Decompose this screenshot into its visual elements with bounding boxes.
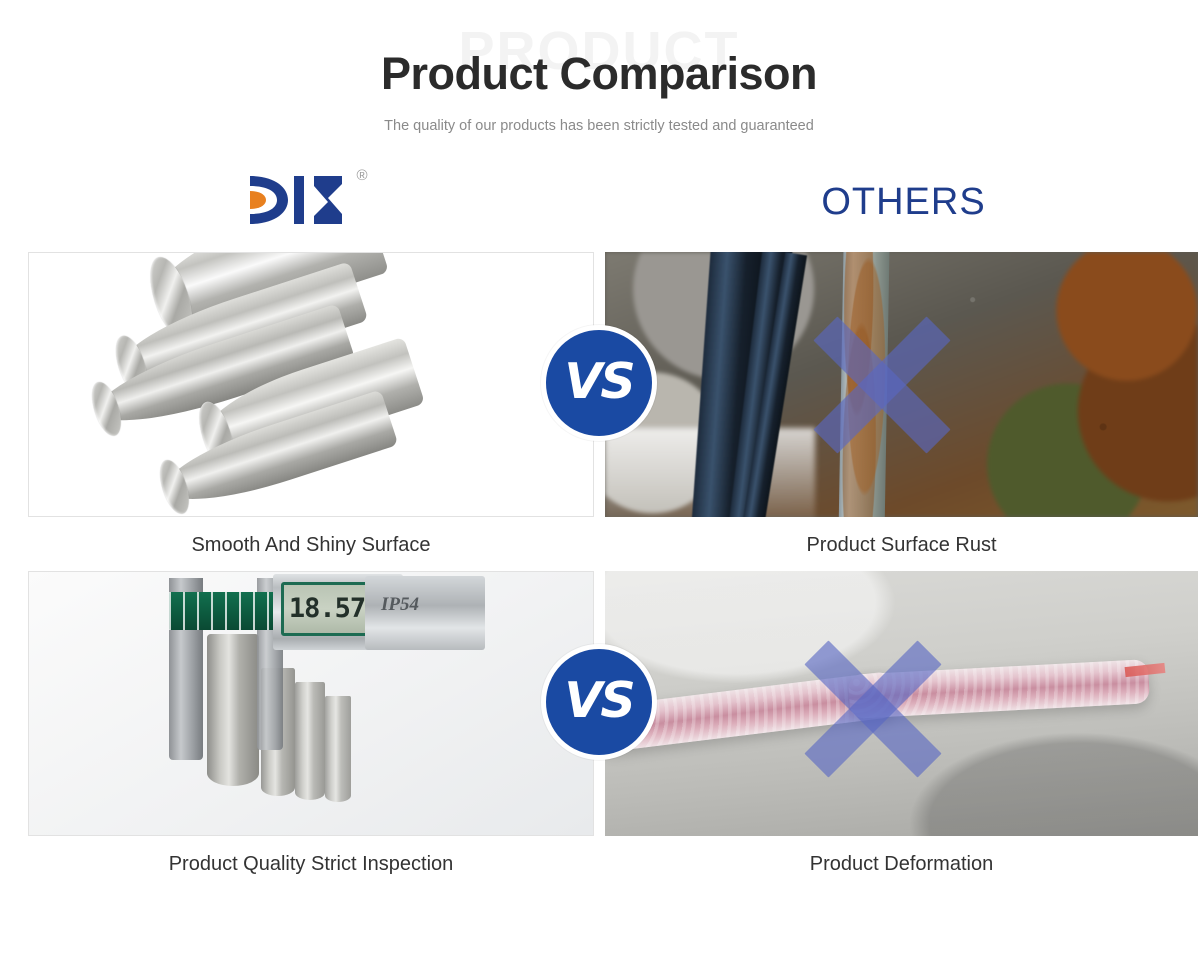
comparison-row: VS	[0, 252, 1198, 563]
vs-badge: VS	[541, 644, 657, 760]
our-product-cell: Smooth And Shiny Surface	[0, 252, 599, 563]
caliper-reading: 18.57	[289, 593, 365, 624]
brand-logo: ®	[244, 172, 346, 233]
our-product-image[interactable]: 18.57 IP54	[28, 571, 594, 836]
rusty-pipe-photo	[605, 252, 1198, 517]
other-product-caption: Product Surface Rust	[605, 517, 1198, 563]
our-product-cell: 18.57 IP54 Product Quality Strict Inspec…	[0, 571, 599, 882]
our-product-caption: Smooth And Shiny Surface	[28, 517, 594, 563]
deformed-rod-photo	[605, 571, 1198, 836]
registered-trademark-icon: ®	[356, 168, 367, 183]
vs-badge: VS	[541, 325, 657, 441]
other-product-caption: Product Deformation	[605, 836, 1198, 882]
our-product-image[interactable]	[28, 252, 594, 517]
our-brand-cell: ®	[0, 164, 599, 242]
caliper-measurement-photo: 18.57 IP54	[29, 572, 593, 835]
others-label: OTHERS	[821, 181, 985, 224]
comparison-grid: VS	[0, 252, 1198, 882]
other-product-image[interactable]	[605, 252, 1198, 517]
page-title: Product Comparison	[0, 48, 1198, 100]
caliper-display: 18.57	[281, 582, 373, 636]
page-header: PRODUCT Product Comparison The quality o…	[0, 0, 1198, 134]
vs-label: VS	[564, 353, 633, 410]
other-product-cell: Product Surface Rust	[599, 252, 1198, 563]
page-subtitle: The quality of our products has been str…	[0, 118, 1198, 134]
comparison-row: VS	[0, 571, 1198, 882]
others-brand-cell: OTHERS	[599, 164, 1198, 242]
our-product-caption: Product Quality Strict Inspection	[28, 836, 594, 882]
dlx-logo-icon	[244, 172, 346, 228]
caliper-ip-rating: IP54	[381, 594, 419, 616]
other-product-cell: Product Deformation	[599, 571, 1198, 882]
brand-row: ® OTHERS	[0, 164, 1198, 242]
product-comparison-page: PRODUCT Product Comparison The quality o…	[0, 0, 1198, 968]
vs-label: VS	[564, 672, 633, 729]
other-product-image[interactable]	[605, 571, 1198, 836]
steel-bars-photo	[29, 253, 593, 516]
